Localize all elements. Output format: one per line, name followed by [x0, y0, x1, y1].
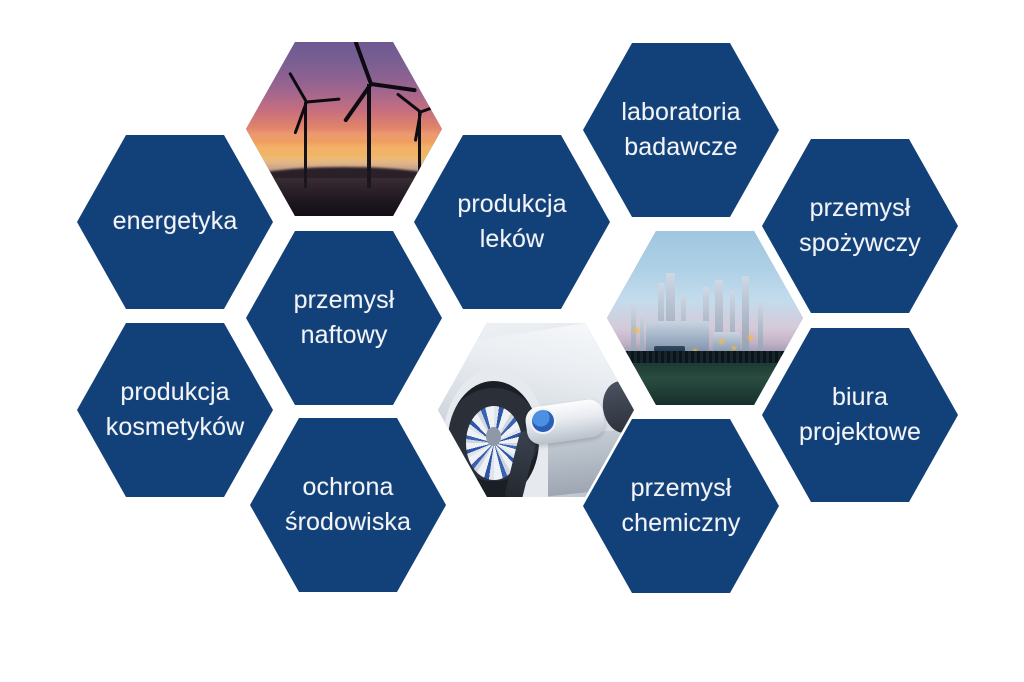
hex-label-przemysl-spozywczy: przemysł spożywczy [785, 191, 935, 262]
hex-cell-produkcja-lekow[interactable]: produkcja leków [414, 135, 610, 309]
hex-label-ochrona-srodowiska: ochrona środowiska [271, 470, 425, 541]
hex-label-biura-projektowe: biura projektowe [785, 380, 935, 451]
hex-label-laboratoria-badawcze: laboratoria badawcze [607, 95, 754, 166]
hex-cell-laboratoria-badawcze[interactable]: laboratoria badawcze [583, 43, 779, 217]
hex-cell-ochrona-srodowiska[interactable]: ochrona środowiska [250, 418, 446, 592]
honeycomb-graphic: energetyka [0, 0, 1024, 682]
oil-refinery-dusk-photo [607, 231, 803, 405]
hex-cell-rafineria-image[interactable] [607, 231, 803, 405]
hex-cell-energetyka[interactable]: energetyka [77, 135, 273, 309]
hex-cell-biura-projektowe[interactable]: biura projektowe [762, 328, 958, 502]
hex-label-przemysl-chemiczny: przemysł chemiczny [608, 471, 755, 542]
hex-cell-produkcja-kosmetykow[interactable]: produkcja kosmetyków [77, 323, 273, 497]
hex-label-produkcja-lekow: produkcja leków [443, 187, 580, 258]
hex-cell-wind-farm-image[interactable] [246, 42, 442, 216]
hex-label-produkcja-kosmetykow: produkcja kosmetyków [92, 375, 259, 446]
hex-cell-przemysl-naftowy[interactable]: przemysł naftowy [246, 231, 442, 405]
wind-turbines-sunset-photo [246, 42, 442, 216]
hex-label-przemysl-naftowy: przemysł naftowy [280, 283, 409, 354]
hex-label-energetyka: energetyka [99, 204, 252, 240]
hex-cell-przemysl-spozywczy[interactable]: przemysł spożywczy [762, 139, 958, 313]
